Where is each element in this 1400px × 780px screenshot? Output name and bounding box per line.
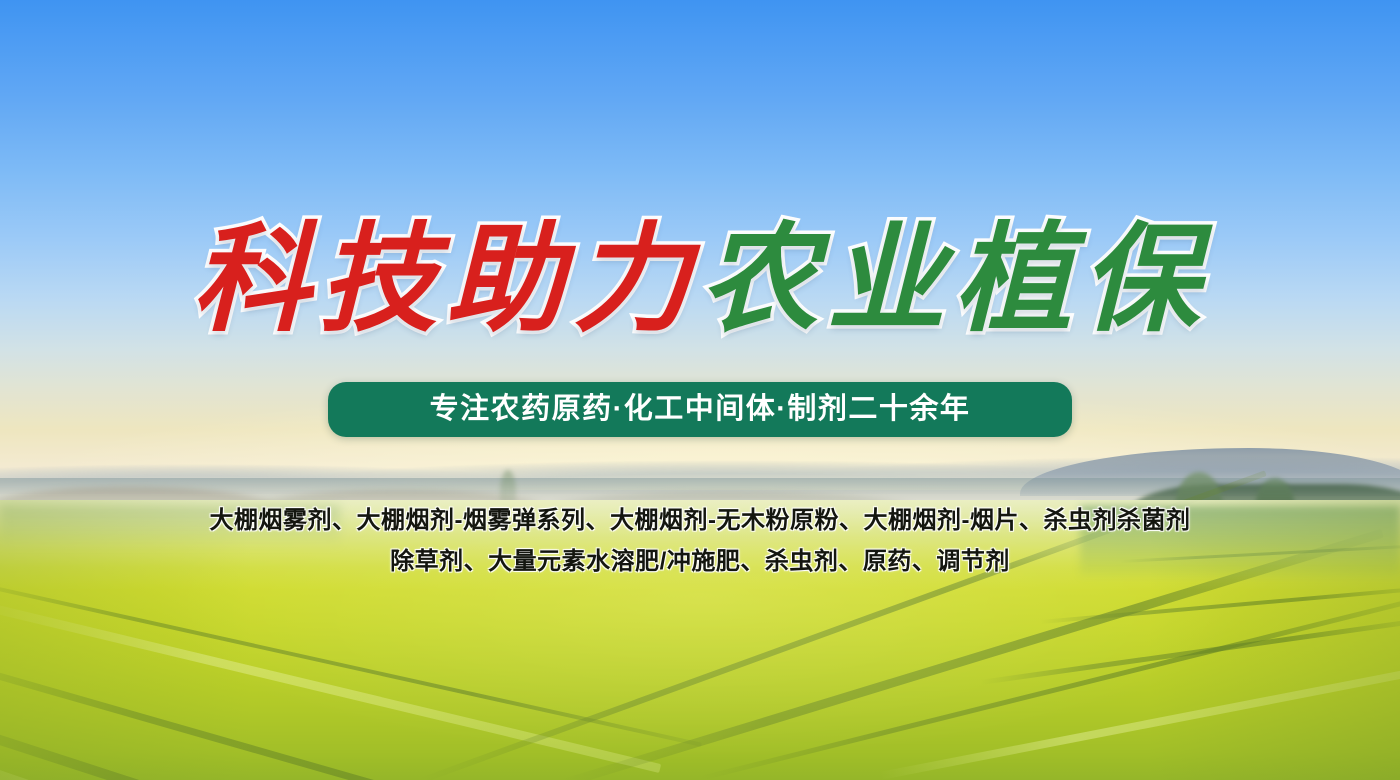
promo-banner: 科技助力农业植保 专注农药原药·化工中间体·制剂二十余年 大棚烟雾剂、大棚烟剂-… xyxy=(0,0,1400,780)
headline: 科技助力农业植保 xyxy=(0,212,1400,350)
headline-segment-red: 科技助力 xyxy=(192,212,700,350)
product-line: 除草剂、大量元素水溶肥/冲施肥、杀虫剂、原药、调节剂 xyxy=(0,541,1400,582)
product-line: 大棚烟雾剂、大棚烟剂-烟雾弹系列、大棚烟剂-无木粉原粉、大棚烟剂-烟片、杀虫剂杀… xyxy=(0,500,1400,541)
headline-segment-green: 农业植保 xyxy=(700,212,1208,350)
subtitle-pill: 专注农药原药·化工中间体·制剂二十余年 xyxy=(328,382,1072,437)
subtitle-text: 专注农药原药·化工中间体·制剂二十余年 xyxy=(430,395,971,424)
product-list: 大棚烟雾剂、大棚烟剂-烟雾弹系列、大棚烟剂-无木粉原粉、大棚烟剂-烟片、杀虫剂杀… xyxy=(0,500,1400,582)
